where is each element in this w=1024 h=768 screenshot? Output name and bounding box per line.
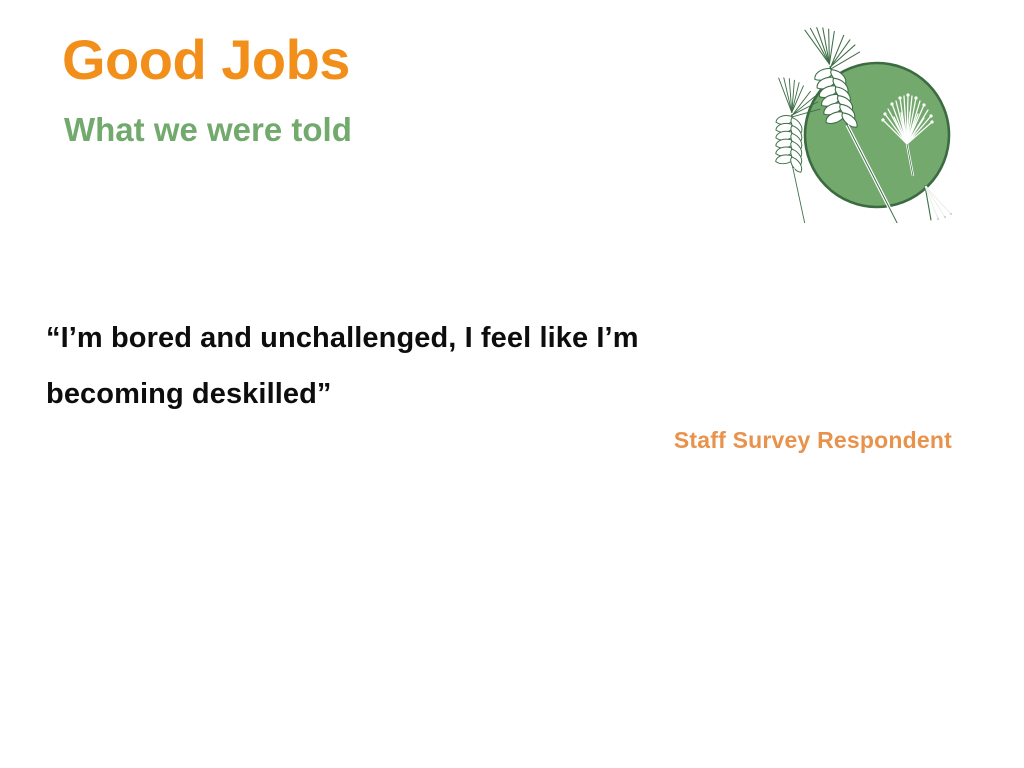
page-title: Good Jobs (62, 32, 350, 88)
quote-attribution: Staff Survey Respondent (0, 427, 952, 454)
wheat-and-clover-logo (775, 18, 975, 223)
quote-line-2: becoming deskilled” (46, 366, 826, 422)
presentation-slide: Good Jobs What we were told (0, 0, 1024, 768)
quote-block: “I’m bored and unchallenged, I feel like… (46, 310, 826, 422)
quote-line-1: “I’m bored and unchallenged, I feel like… (46, 310, 826, 366)
page-subtitle: What we were told (64, 113, 352, 146)
wheat-and-clover-icon (775, 18, 975, 223)
